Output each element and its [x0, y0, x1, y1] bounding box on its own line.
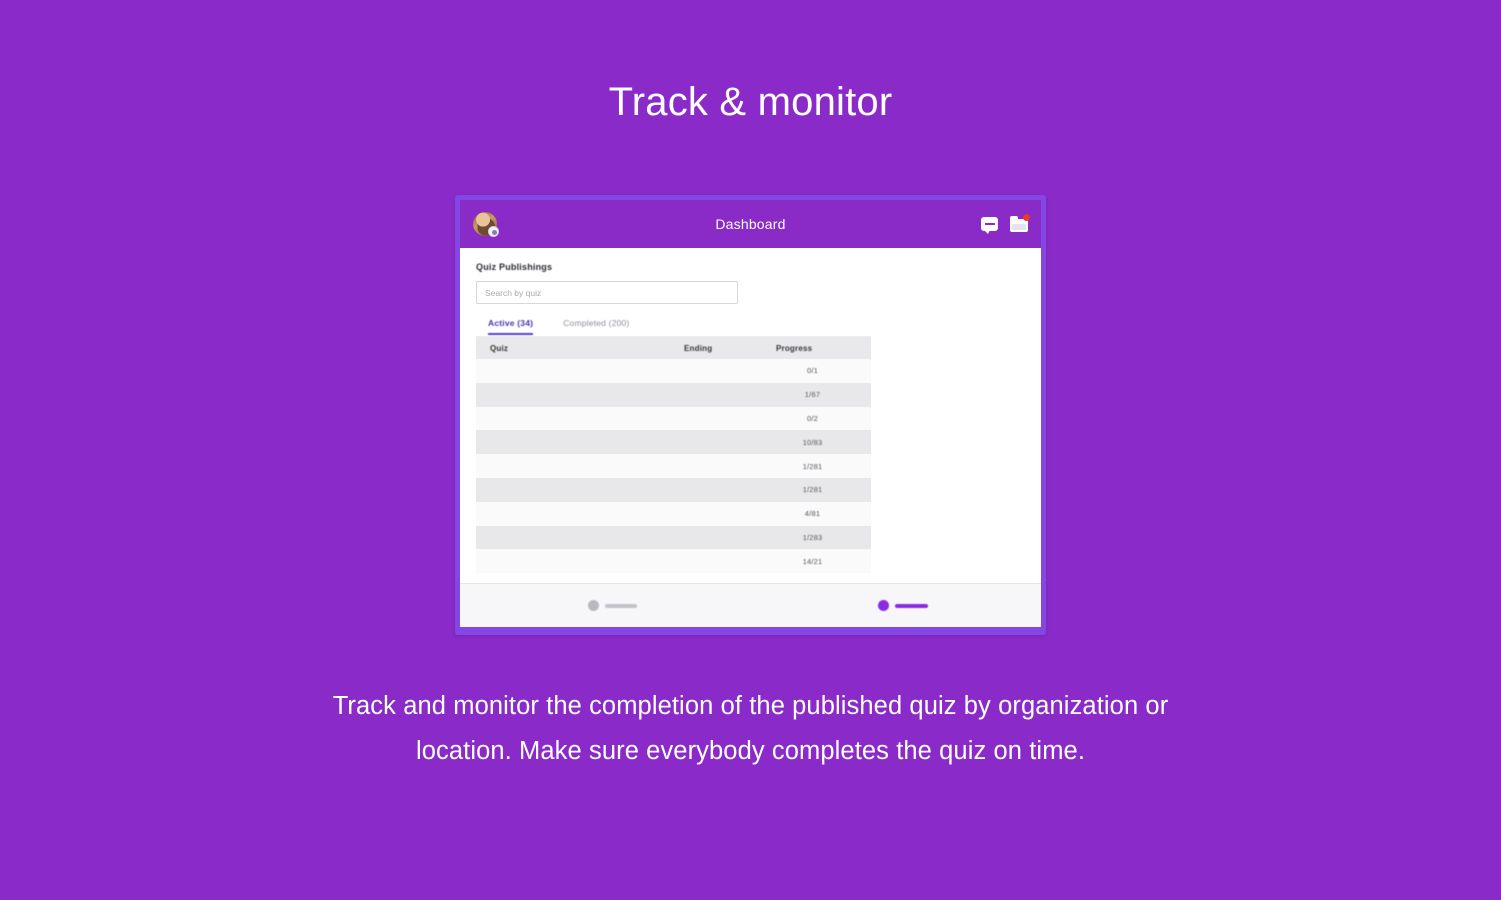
table-row[interactable]: 4/81	[476, 502, 871, 526]
app-content: Quiz Publishings Active (34) Completed (…	[460, 248, 1041, 583]
table-row[interactable]: 10/83	[476, 430, 871, 454]
tab-bar: Active (34) Completed (200)	[476, 318, 1025, 335]
cell-progress: 14/21	[768, 557, 857, 566]
cell-progress: 0/1	[768, 366, 857, 375]
nav-item-quizzes-label	[605, 604, 637, 608]
table-row[interactable]: 1/67	[476, 383, 871, 407]
nav-item-quizzes-icon	[588, 600, 599, 611]
table-row[interactable]: 1/283	[476, 526, 871, 550]
table-row[interactable]: 14/21	[476, 549, 871, 573]
nav-item-quizzes[interactable]	[588, 600, 637, 611]
table-row[interactable]: 1/281	[476, 454, 871, 478]
column-header-ending: Ending	[658, 344, 768, 353]
column-header-progress: Progress	[768, 344, 857, 353]
app-header-actions	[981, 216, 1028, 232]
device-screen: Dashboard Quiz Publishings Active (34) C…	[460, 200, 1041, 627]
tab-active[interactable]: Active (34)	[488, 318, 533, 335]
avatar[interactable]	[473, 212, 497, 236]
page-title: Track & monitor	[0, 78, 1501, 126]
folder-icon[interactable]	[1010, 216, 1028, 232]
device-mockup-frame: Dashboard Quiz Publishings Active (34) C…	[455, 195, 1046, 635]
page-description: Track and monitor the completion of the …	[301, 684, 1201, 774]
cell-progress: 1/283	[768, 533, 857, 542]
app-title: Dashboard	[460, 216, 1041, 232]
table-header-row: Quiz Ending Progress	[476, 337, 871, 359]
search-input[interactable]	[476, 281, 738, 304]
cell-progress: 4/81	[768, 509, 857, 518]
avatar-status-badge-icon	[488, 226, 499, 237]
cell-progress: 1/281	[768, 462, 857, 471]
nav-item-dashboard-label	[895, 604, 928, 608]
table-row[interactable]: 0/2	[476, 407, 871, 431]
tab-completed[interactable]: Completed (200)	[563, 318, 629, 335]
cell-progress: 1/67	[768, 390, 857, 399]
cell-progress: 0/2	[768, 414, 857, 423]
table-row[interactable]: 1/281	[476, 478, 871, 502]
nav-item-dashboard[interactable]	[878, 600, 928, 611]
quiz-table: Quiz Ending Progress 0/1 1/67	[476, 336, 871, 573]
notification-badge-icon	[1023, 214, 1030, 221]
section-title: Quiz Publishings	[476, 262, 1025, 272]
cell-progress: 10/83	[768, 438, 857, 447]
cell-progress: 1/281	[768, 485, 857, 494]
table-row[interactable]: 0/1	[476, 359, 871, 383]
app-header-bar: Dashboard	[460, 200, 1041, 248]
column-header-quiz: Quiz	[490, 344, 658, 353]
nav-item-dashboard-icon	[878, 600, 889, 611]
bottom-navigation	[460, 583, 1041, 627]
chat-icon[interactable]	[981, 217, 998, 231]
